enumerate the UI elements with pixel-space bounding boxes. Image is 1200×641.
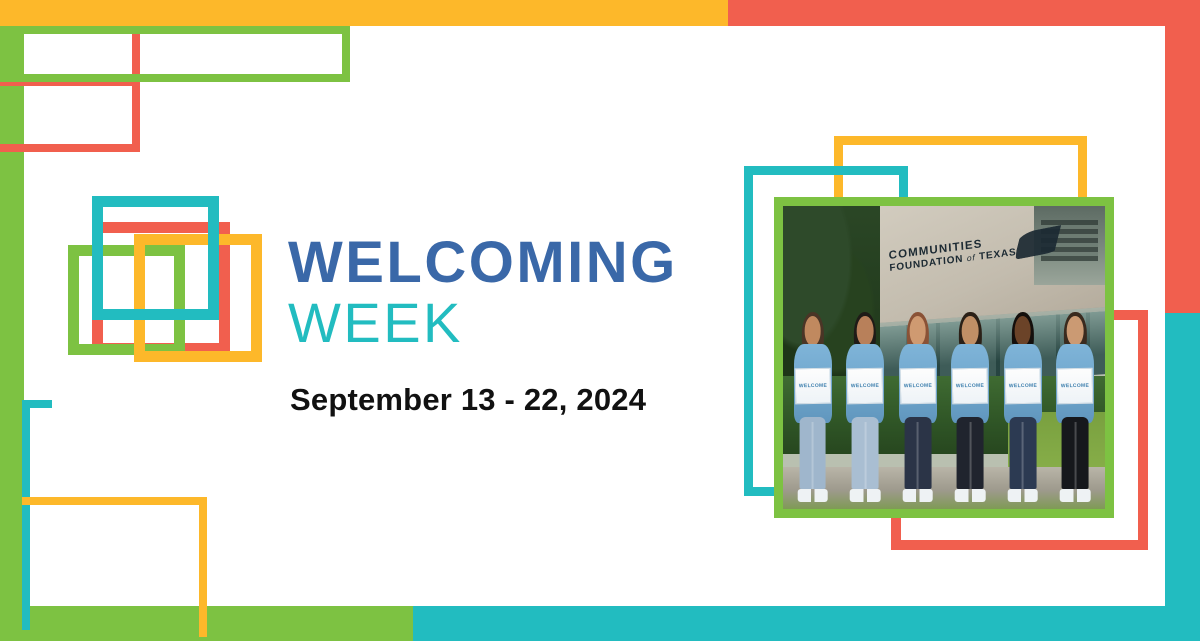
volunteer-pants (957, 417, 984, 488)
volunteer-shoes (902, 489, 933, 502)
volunteer-pants (852, 417, 879, 488)
volunteer-5: WELCOME (1000, 312, 1046, 500)
event-date-text: September 13 - 22, 2024 (290, 382, 646, 418)
welcome-sign: WELCOME (1004, 368, 1041, 404)
photo-volunteers-row: WELCOME WELCOME WELCOME (789, 312, 1098, 500)
volunteer-shoes (1008, 489, 1039, 502)
photo-inner: COMMUNITIES FOUNDATION of TEXAS WELCOME (783, 206, 1105, 509)
volunteer-shoes (1060, 489, 1091, 502)
page-title: WELCOMING WEEK (288, 234, 758, 355)
welcome-sign-text: WELCOME (1009, 383, 1037, 389)
top-bar-yellow (0, 0, 728, 26)
volunteer-face (962, 316, 979, 346)
welcoming-week-logo-icon (68, 196, 268, 362)
volunteer-pants (1062, 417, 1089, 488)
bottom-left-yellow-frame (22, 497, 207, 637)
welcome-sign-text: WELCOME (851, 383, 879, 389)
volunteer-6: WELCOME (1052, 312, 1098, 500)
volunteer-shoes (955, 489, 986, 502)
welcome-sign-text: WELCOME (956, 383, 984, 389)
bottom-bar-cyan (413, 606, 1200, 641)
welcome-sign: WELCOME (794, 368, 831, 404)
volunteer-pants (1009, 417, 1036, 488)
volunteer-face (804, 316, 821, 346)
volunteer-shoes (797, 489, 828, 502)
volunteer-2: WELCOME (842, 312, 888, 500)
headline-line-week: WEEK (288, 292, 758, 355)
volunteer-face (1014, 316, 1031, 346)
top-left-green-frame (0, 26, 350, 82)
welcome-sign-text: WELCOME (798, 383, 826, 389)
volunteer-shoes (850, 489, 881, 502)
right-bar-cyan (1165, 313, 1200, 641)
welcome-sign: WELCOME (847, 368, 884, 404)
top-left-red-frame-lower (0, 82, 140, 152)
logo-square-cyan-icon (92, 196, 219, 320)
volunteer-1: WELCOME (789, 312, 835, 500)
welcome-sign: WELCOME (899, 368, 936, 404)
headline-line-welcoming: WELCOMING (288, 234, 758, 292)
welcome-sign: WELCOME (1057, 368, 1094, 404)
volunteer-face (857, 316, 874, 346)
building-sign-of: of (967, 253, 976, 264)
welcoming-week-banner: WELCOMING WEEK September 13 - 22, 2024 C… (0, 0, 1200, 641)
volunteer-face (1067, 316, 1084, 346)
welcome-sign-text: WELCOME (904, 383, 932, 389)
volunteer-pants (799, 417, 826, 488)
event-photo: COMMUNITIES FOUNDATION of TEXAS WELCOME (774, 197, 1114, 518)
top-bar-red (728, 0, 1200, 26)
volunteer-pants (904, 417, 931, 488)
right-bar-red (1165, 0, 1200, 313)
welcome-sign: WELCOME (952, 368, 989, 404)
volunteer-face (909, 316, 926, 346)
volunteer-3: WELCOME (895, 312, 941, 500)
welcome-sign-text: WELCOME (1061, 383, 1089, 389)
volunteer-4: WELCOME (947, 312, 993, 500)
